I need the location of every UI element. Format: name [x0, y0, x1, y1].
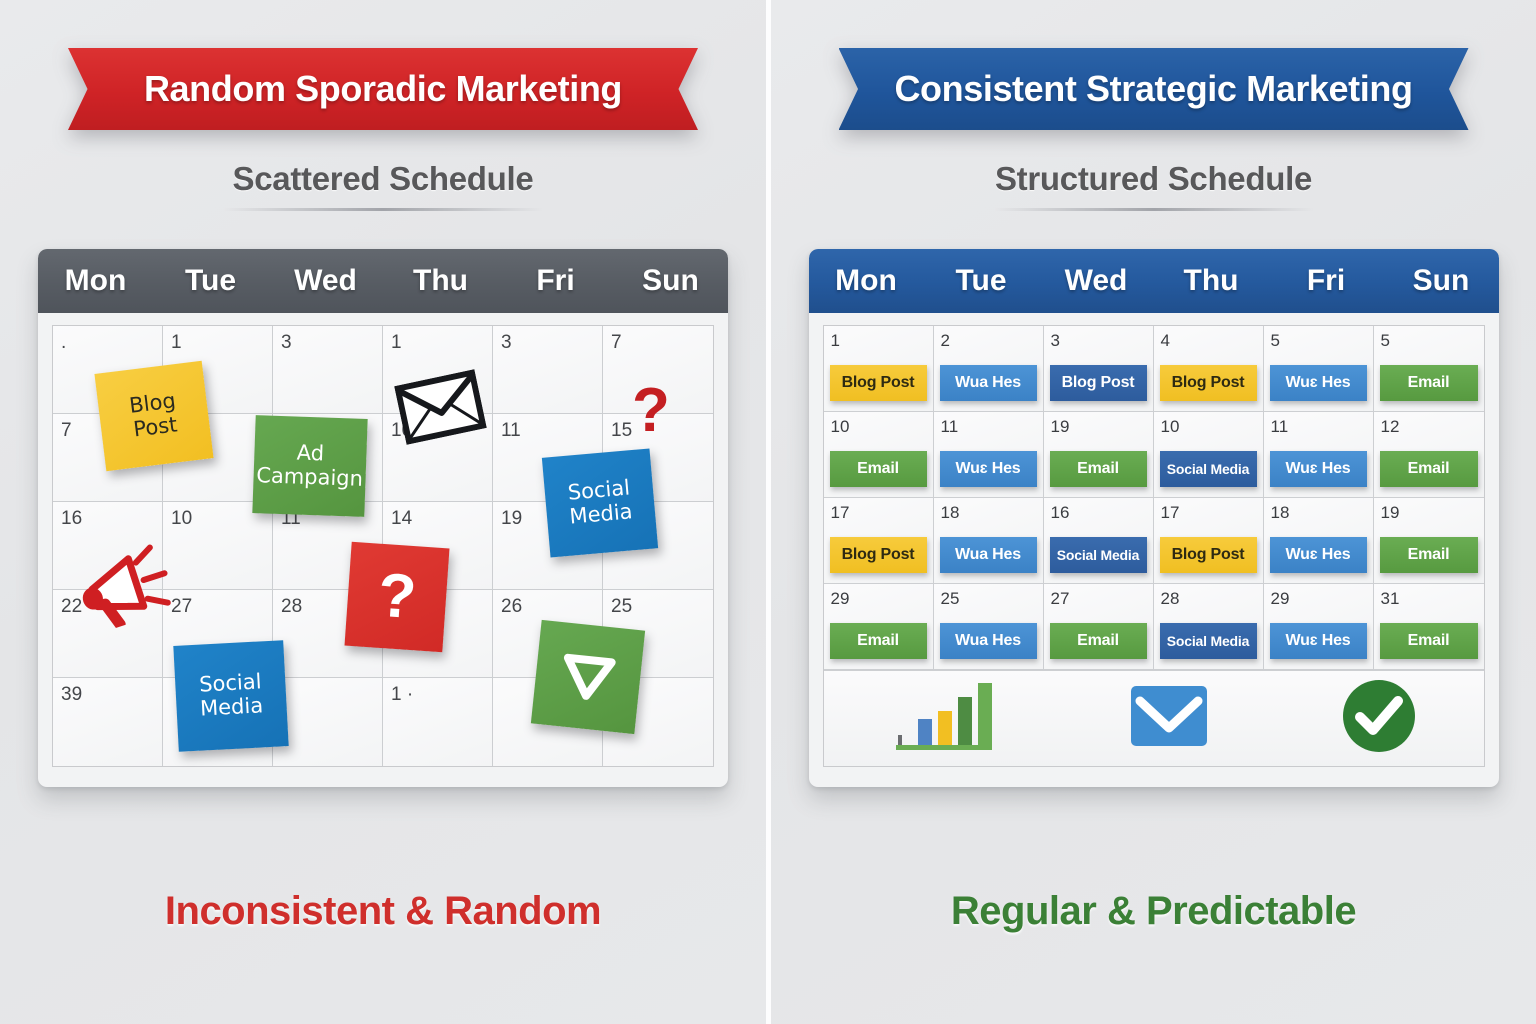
panel-random-sporadic-marketing: Random Sporadic Marketing Scattered Sche…: [0, 0, 766, 1024]
event-chip[interactable]: Email: [1380, 365, 1478, 401]
sticky-note-social-media-lower-label: Social Media: [198, 671, 263, 721]
right-calendar-grid: 1Blog Post2Wua Hes3Blog Post4Blog Post5W…: [823, 325, 1485, 767]
right-day-cell[interactable]: 27Email: [1044, 584, 1154, 670]
event-chip[interactable]: Blog Post: [1160, 537, 1257, 573]
left-weekday-tue: Tue: [153, 264, 268, 298]
right-day-cell[interactable]: 4Blog Post: [1154, 326, 1264, 412]
left-banner-title: Random Sporadic Marketing: [144, 68, 622, 110]
right-day-cell[interactable]: 19Email: [1044, 412, 1154, 498]
right-day-number: 10: [831, 417, 850, 436]
event-chip[interactable]: Email: [1380, 623, 1478, 659]
right-day-number: 3: [1051, 331, 1060, 350]
check-circle-icon: [1341, 678, 1417, 759]
sticky-note-question-mark[interactable]: ?: [344, 542, 449, 653]
sticky-note-blog-post-label: Blog Post: [128, 390, 180, 442]
left-day-cell[interactable]: 3: [273, 326, 383, 414]
right-day-cell[interactable]: 11Wuɛ Hes: [934, 412, 1044, 498]
green-play-note-icon[interactable]: [531, 620, 645, 734]
event-chip[interactable]: Wuɛ Hes: [1270, 365, 1367, 401]
sticky-note-ad-campaign[interactable]: Ad Campaign: [252, 415, 367, 517]
left-weekday-mon: Mon: [38, 264, 153, 298]
event-chip[interactable]: Wuɛ Hes: [1270, 537, 1367, 573]
left-day-cell[interactable]: [273, 678, 383, 766]
event-chip[interactable]: Wuɛ Hes: [940, 451, 1037, 487]
left-day-cell[interactable]: 3: [493, 326, 603, 414]
right-day-number: 28: [1161, 589, 1180, 608]
event-chip[interactable]: Wua Hes: [940, 623, 1037, 659]
left-subheading: Scattered Schedule: [233, 160, 534, 198]
right-day-number: 1: [831, 331, 840, 350]
left-weekday-thu: Thu: [383, 264, 498, 298]
right-subheading: Structured Schedule: [995, 160, 1312, 198]
right-day-number: 11: [1271, 417, 1289, 436]
right-banner-title: Consistent Strategic Marketing: [894, 68, 1412, 110]
left-caption: Inconsistent & Random: [165, 889, 601, 934]
event-chip[interactable]: Email: [1050, 451, 1147, 487]
right-day-cell[interactable]: 1Blog Post: [824, 326, 934, 412]
left-ribbon-banner: Random Sporadic Marketing: [68, 48, 698, 130]
envelope-icon: [1130, 685, 1208, 752]
event-chip[interactable]: Email: [830, 451, 927, 487]
left-calendar-card: Mon Tue Wed Thu Fri Sun .131377101115161…: [38, 249, 728, 787]
event-chip[interactable]: Social Media: [1050, 537, 1147, 573]
left-day-cell[interactable]: 1 ·: [383, 678, 493, 766]
event-chip[interactable]: Email: [1050, 623, 1147, 659]
right-weekday-mon: Mon: [809, 264, 924, 298]
right-day-number: 5: [1381, 331, 1390, 350]
event-chip[interactable]: Email: [830, 623, 927, 659]
sticky-note-social-media-lower[interactable]: Social Media: [173, 640, 288, 752]
right-day-number: 31: [1381, 589, 1400, 608]
event-chip[interactable]: Blog Post: [1160, 365, 1257, 401]
right-day-number: 5: [1271, 331, 1280, 350]
right-caption: Regular & Predictable: [951, 889, 1356, 934]
right-calendar-weekday-header: Mon Tue Wed Thu Fri Sun: [809, 249, 1499, 313]
right-day-cell[interactable]: 12Email: [1374, 412, 1484, 498]
right-ribbon-shape: Consistent Strategic Marketing: [839, 48, 1469, 130]
event-chip[interactable]: Blog Post: [1050, 365, 1147, 401]
left-calendar-weekday-header: Mon Tue Wed Thu Fri Sun: [38, 249, 728, 313]
right-day-number: 16: [1051, 503, 1070, 522]
right-day-cell[interactable]: 25Wua Hes: [934, 584, 1044, 670]
right-day-cell[interactable]: 29Email: [824, 584, 934, 670]
left-weekday-fri: Fri: [498, 264, 613, 298]
right-day-number: 2: [941, 331, 950, 350]
event-chip[interactable]: Wuɛ Hes: [1270, 623, 1367, 659]
right-day-cell[interactable]: 3Blog Post: [1044, 326, 1154, 412]
sticky-note-social-media-upper[interactable]: Social Media: [542, 448, 658, 557]
right-day-number: 29: [831, 589, 850, 608]
right-day-cell[interactable]: 28Social Media: [1154, 584, 1264, 670]
right-weekday-thu: Thu: [1154, 264, 1269, 298]
right-day-cell[interactable]: 17Blog Post: [1154, 498, 1264, 584]
right-weekday-wed: Wed: [1039, 264, 1154, 298]
left-day-cell[interactable]: 39: [53, 678, 163, 766]
right-day-number: 27: [1051, 589, 1070, 608]
right-day-number: 4: [1161, 331, 1170, 350]
right-day-number: 10: [1161, 417, 1180, 436]
right-weekday-fri: Fri: [1269, 264, 1384, 298]
sticky-note-ad-campaign-label: Ad Campaign: [256, 441, 364, 492]
event-chip[interactable]: Social Media: [1160, 451, 1257, 487]
right-day-cell[interactable]: 16Social Media: [1044, 498, 1154, 584]
right-day-cell[interactable]: 18Wuɛ Hes: [1264, 498, 1374, 584]
right-day-number: 25: [941, 589, 960, 608]
right-day-number: 17: [831, 503, 850, 522]
right-day-number: 11: [941, 417, 959, 436]
right-day-cell[interactable]: 5Email: [1374, 326, 1484, 412]
right-day-cell[interactable]: 18Wua Hes: [934, 498, 1044, 584]
left-weekday-wed: Wed: [268, 264, 383, 298]
right-weekday-tue: Tue: [924, 264, 1039, 298]
svg-text:?: ?: [632, 376, 670, 445]
right-day-number: 18: [941, 503, 960, 522]
sticky-note-social-media-upper-label: Social Media: [567, 477, 634, 529]
event-chip[interactable]: Email: [1380, 451, 1478, 487]
bar-chart-growth-icon: [890, 681, 998, 756]
event-chip[interactable]: Wua Hes: [940, 365, 1037, 401]
right-day-number: 29: [1271, 589, 1290, 608]
event-chip[interactable]: Social Media: [1160, 623, 1257, 659]
right-day-cell[interactable]: 10Social Media: [1154, 412, 1264, 498]
panel-consistent-strategic-marketing: Consistent Strategic Marketing Structure…: [766, 0, 1536, 1024]
right-day-cell[interactable]: 31Email: [1374, 584, 1484, 670]
triangle-down-icon: [558, 651, 619, 703]
left-subheading-rule: [223, 208, 543, 211]
event-chip[interactable]: Blog Post: [830, 365, 927, 401]
right-day-cell[interactable]: 5Wuɛ Hes: [1264, 326, 1374, 412]
right-day-cell[interactable]: 11Wuɛ Hes: [1264, 412, 1374, 498]
right-day-number: 17: [1161, 503, 1180, 522]
event-chip[interactable]: Wua Hes: [940, 537, 1037, 573]
right-calendar-body: 1Blog Post2Wua Hes3Blog Post4Blog Post5W…: [823, 325, 1485, 767]
right-day-cell[interactable]: 19Email: [1374, 498, 1484, 584]
right-day-cell[interactable]: 10Email: [824, 412, 934, 498]
right-day-number: 12: [1381, 417, 1400, 436]
sticky-note-blog-post[interactable]: Blog Post: [94, 361, 213, 471]
right-day-cell[interactable]: 2Wua Hes: [934, 326, 1044, 412]
right-day-cell[interactable]: 29Wuɛ Hes: [1264, 584, 1374, 670]
left-calendar-body: .13137710111516101114192227282625391 · B…: [52, 325, 714, 767]
right-day-number: 19: [1381, 503, 1400, 522]
right-subheading-rule: [994, 208, 1314, 211]
right-day-number: 18: [1271, 503, 1290, 522]
right-calendar-card: Mon Tue Wed Thu Fri Sun 1Blog Post2Wua H…: [809, 249, 1499, 787]
right-calendar-footer-strip: [824, 670, 1484, 766]
comparison-board: Random Sporadic Marketing Scattered Sche…: [0, 0, 1536, 1024]
right-day-number: 19: [1051, 417, 1070, 436]
right-weekday-sun: Sun: [1384, 264, 1499, 298]
event-chip[interactable]: Email: [1380, 537, 1478, 573]
question-mark-icon: ?: [628, 373, 674, 462]
right-ribbon-banner: Consistent Strategic Marketing: [839, 48, 1469, 130]
event-chip[interactable]: Wuɛ Hes: [1270, 451, 1367, 487]
sticky-note-question-mark-label: ?: [376, 565, 418, 629]
left-day-cell[interactable]: 10: [163, 502, 273, 590]
right-day-cell[interactable]: 17Blog Post: [824, 498, 934, 584]
left-weekday-sun: Sun: [613, 264, 728, 298]
event-chip[interactable]: Blog Post: [830, 537, 927, 573]
left-ribbon-shape: Random Sporadic Marketing: [68, 48, 698, 130]
